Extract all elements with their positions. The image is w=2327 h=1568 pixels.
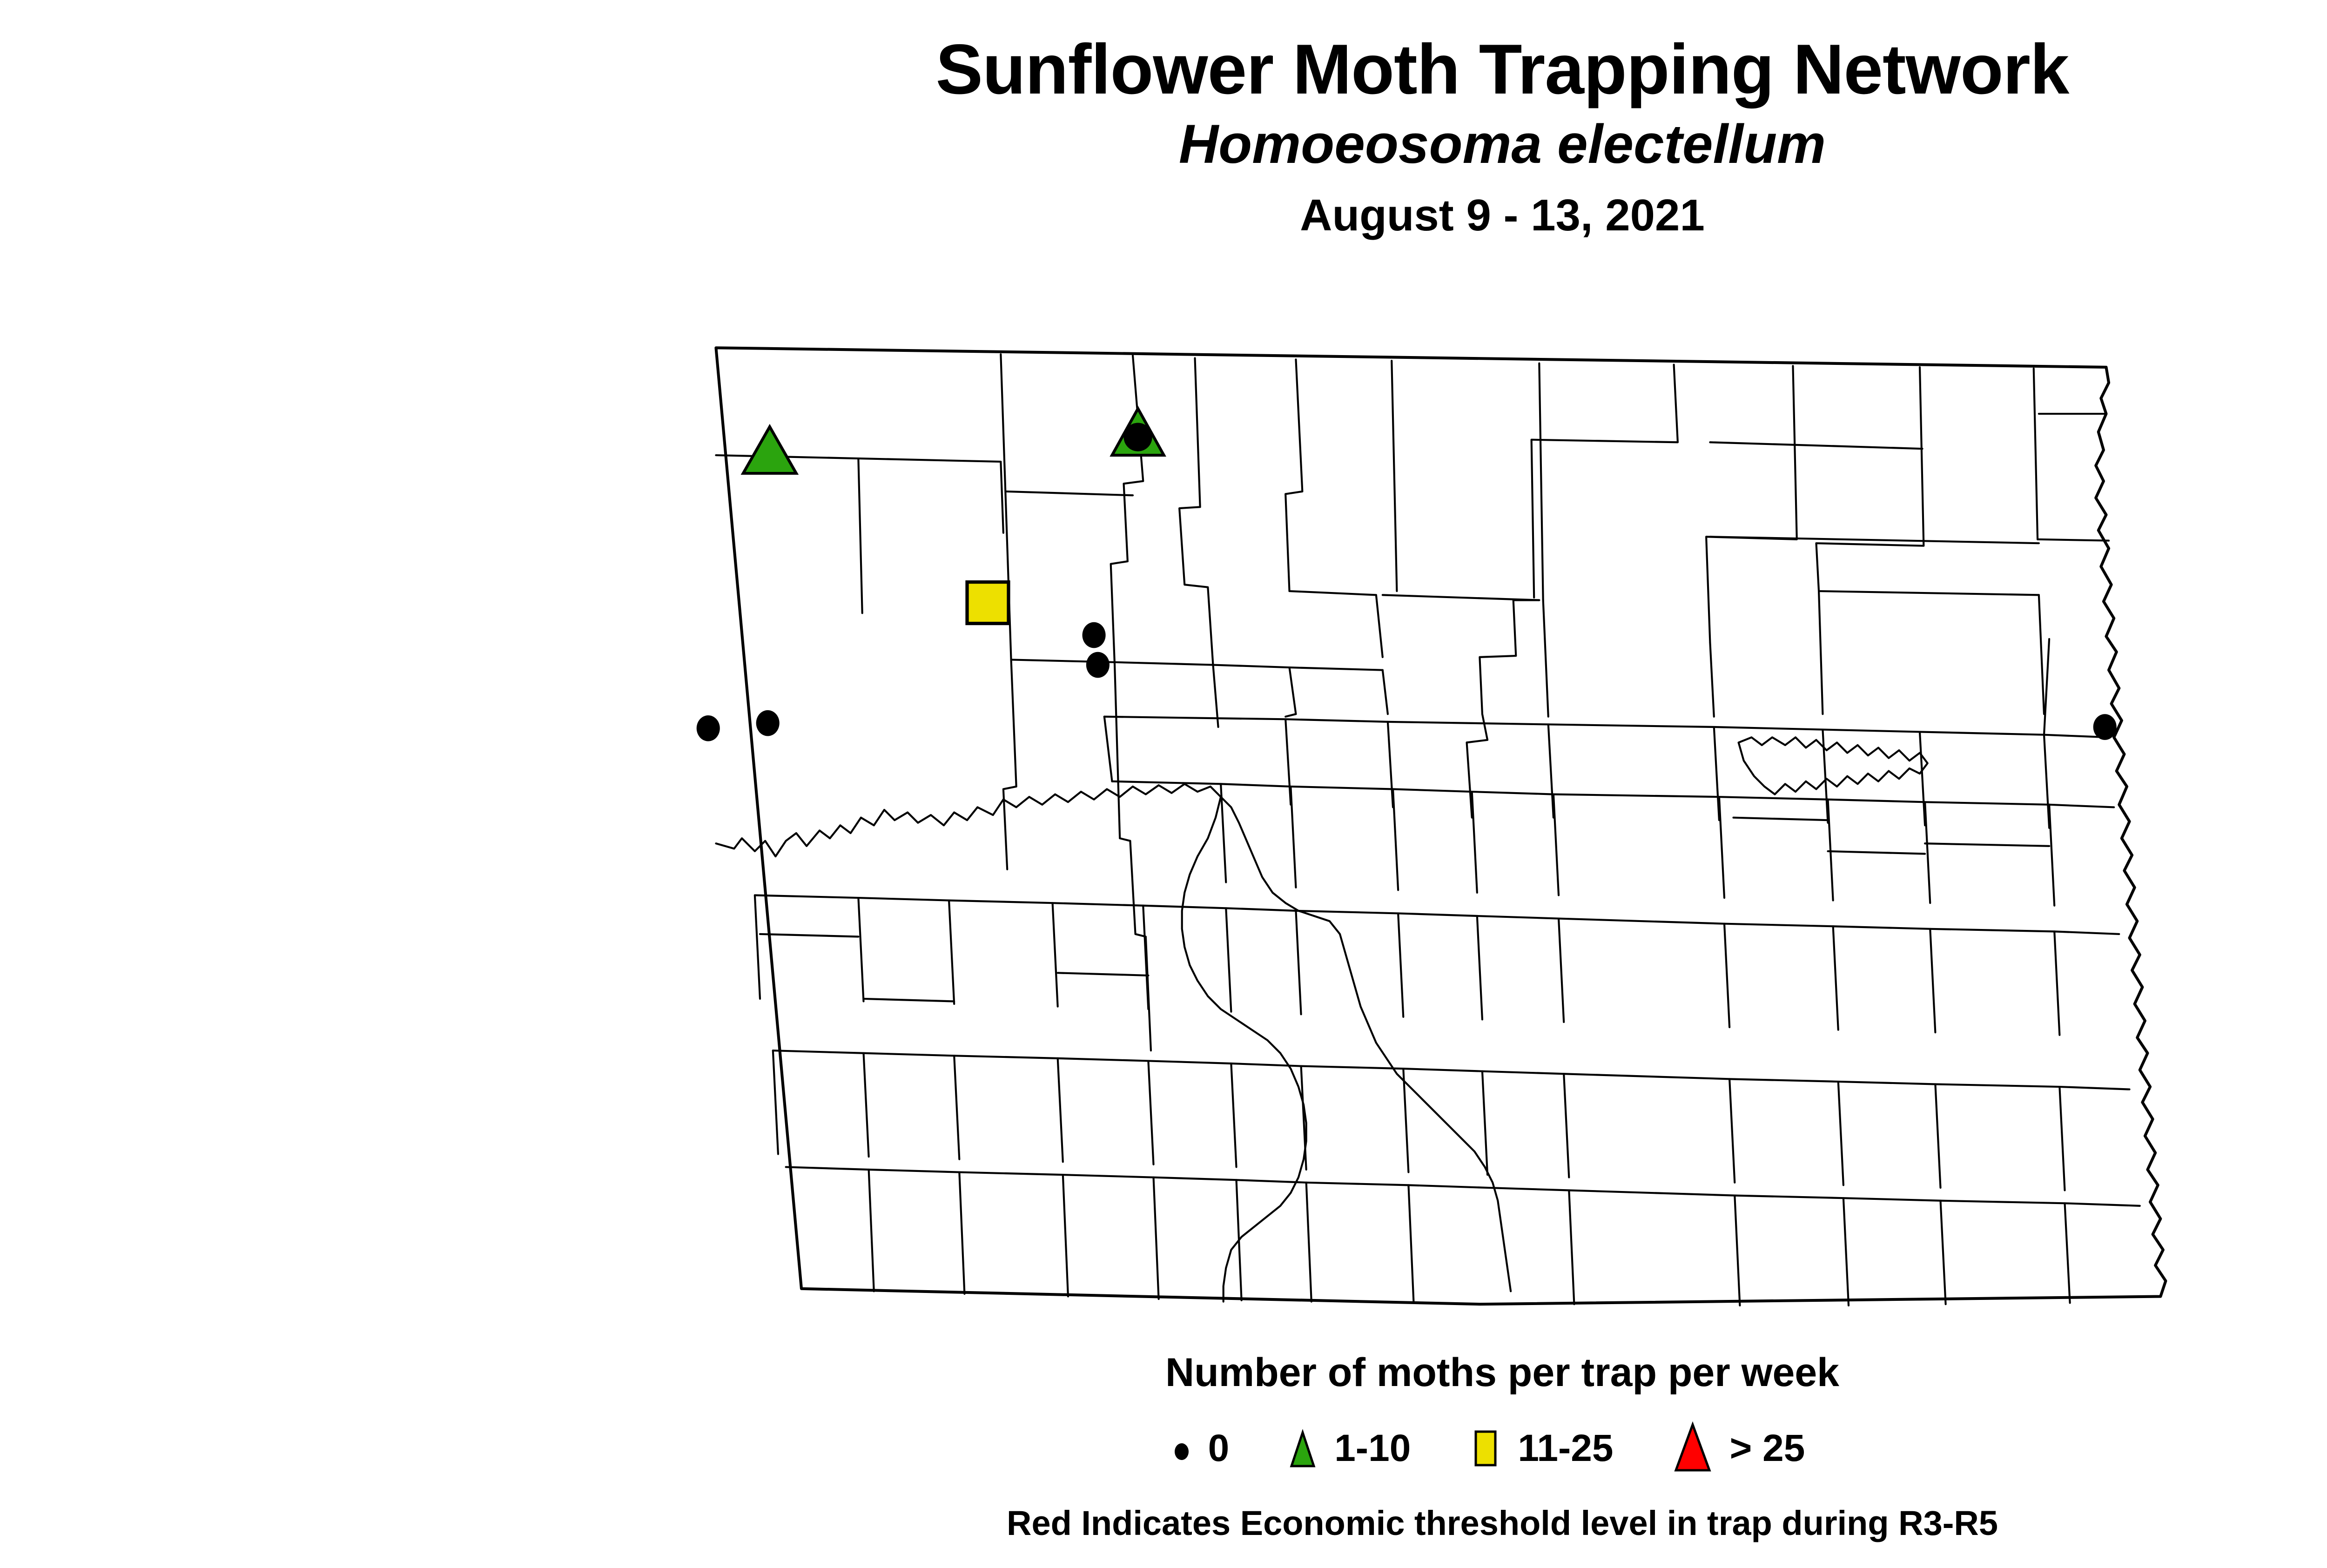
county-line-m8 xyxy=(1710,643,1714,716)
legend-item-low[interactable]: 1-10 xyxy=(1287,1426,1411,1471)
county-line-l2 xyxy=(858,898,863,1001)
county-row-line-6 xyxy=(1710,442,1922,449)
county-row-line-12 xyxy=(1823,639,2049,735)
county-line-l25 xyxy=(1729,1079,1735,1182)
county-line-l8 xyxy=(1398,913,1403,1016)
county-line-l17 xyxy=(954,1056,959,1159)
page-title: Sunflower Moth Trapping Network xyxy=(0,33,2327,107)
county-line-l40 xyxy=(2065,1203,2070,1303)
county-line-l39 xyxy=(1941,1201,1946,1304)
marker-circle-zero-c[interactable] xyxy=(697,715,720,741)
marker-square-11-25[interactable] xyxy=(967,582,1009,624)
county-line-l7 xyxy=(1296,911,1301,1014)
county-line-n2 xyxy=(1111,356,1143,665)
county-line-m17 xyxy=(1920,732,1925,825)
county-line-m18 xyxy=(2044,735,2049,828)
devils-lake xyxy=(1739,737,1928,794)
county-row-line-16 xyxy=(1828,851,1925,854)
marker-circle-zero-a[interactable] xyxy=(1083,622,1106,648)
county-line-l28 xyxy=(2059,1087,2065,1190)
county-line-m22 xyxy=(1472,792,1477,893)
county-line-l13 xyxy=(1930,929,1935,1032)
county-line-l9 xyxy=(1477,916,1482,1019)
triangle-red-icon xyxy=(1671,1421,1714,1476)
county-line-l18 xyxy=(1058,1058,1063,1162)
marker-circle-zero-d[interactable] xyxy=(756,710,780,736)
county-row-line-20 xyxy=(864,999,955,1002)
title-block: Sunflower Moth Trapping Network Homoeoso… xyxy=(0,33,2327,240)
county-line-n6 xyxy=(1539,363,1543,600)
county-row-line-21 xyxy=(1058,973,1149,976)
circle-icon xyxy=(1171,1433,1192,1464)
county-line-m25 xyxy=(1828,800,1833,901)
county-line-m1 xyxy=(1003,660,1016,869)
county-row-line-8 xyxy=(1819,591,2039,595)
county-row-line-22 xyxy=(773,1050,2130,1089)
county-row-line-4 xyxy=(1011,660,1383,670)
county-boundaries xyxy=(716,348,2166,1306)
county-row-line-23 xyxy=(786,1167,2140,1205)
county-line-m23 xyxy=(1554,794,1559,895)
county-line-l32 xyxy=(1154,1178,1159,1299)
county-line-m27 xyxy=(2049,805,2054,906)
county-line-n11 xyxy=(2034,369,2038,539)
trap-markers xyxy=(697,409,2117,741)
county-line-l16 xyxy=(864,1053,869,1157)
county-line-n5 xyxy=(1392,361,1397,591)
county-row-line-7 xyxy=(1710,537,2038,543)
county-line-l34 xyxy=(1306,1183,1311,1302)
county-line-l29 xyxy=(869,1170,874,1291)
county-line-m12 xyxy=(1388,722,1393,808)
county-line-l37 xyxy=(1735,1196,1740,1306)
legend-label-zero: 0 xyxy=(1208,1427,1230,1470)
county-line-l38 xyxy=(1843,1198,1849,1306)
county-line-l11 xyxy=(1724,924,1729,1027)
county-line-l1 xyxy=(755,895,760,998)
county-line-l14 xyxy=(2054,931,2059,1035)
county-row-line-14 xyxy=(1112,781,2114,808)
county-line-l26 xyxy=(1838,1082,1843,1185)
county-line-m13 xyxy=(1467,742,1472,817)
county-row-line-2 xyxy=(858,459,862,613)
marker-circle-zero-f[interactable] xyxy=(1124,423,1152,451)
county-line-m15 xyxy=(1714,727,1719,820)
county-line-m5 xyxy=(1383,670,1388,714)
county-line-n3 xyxy=(1179,358,1213,665)
legend-item-medium[interactable]: 11-25 xyxy=(1468,1426,1613,1471)
marker-circle-zero-e[interactable] xyxy=(2093,714,2117,740)
county-line-m14 xyxy=(1548,724,1554,817)
county-line-n10 xyxy=(1816,367,1924,591)
county-row-line-9 xyxy=(2038,539,2109,541)
county-line-m16 xyxy=(1823,730,1828,823)
county-line-l6 xyxy=(1226,908,1231,1011)
county-line-n9 xyxy=(1706,366,1797,643)
county-line-l24 xyxy=(1564,1074,1569,1177)
marker-circle-zero-b[interactable] xyxy=(1086,652,1110,678)
marker-triangle-1-10-a[interactable] xyxy=(743,427,796,473)
square-yellow-icon xyxy=(1468,1426,1502,1471)
map-svg xyxy=(677,326,2327,1317)
state-outline xyxy=(716,348,2166,1304)
county-row-line-11 xyxy=(1104,717,1112,781)
species-subtitle: Homoeosoma electellum xyxy=(0,114,2327,175)
legend-row: 0 1-10 11-25 xyxy=(0,1421,2327,1476)
legend-label-low: 1-10 xyxy=(1334,1427,1411,1470)
county-line-l10 xyxy=(1559,919,1564,1022)
economic-threshold-note: Red Indicates Economic threshold level i… xyxy=(0,1503,2327,1543)
legend-heading: Number of moths per trap per week xyxy=(0,1350,2327,1396)
legend-item-high[interactable]: > 25 xyxy=(1671,1421,1805,1476)
county-line-l15 xyxy=(773,1050,778,1154)
county-line-m10 xyxy=(2039,595,2044,714)
county-row-line-18 xyxy=(755,895,2119,934)
county-row-line-17 xyxy=(1925,843,2049,846)
county-line-l3 xyxy=(949,901,954,1004)
legend: Number of moths per trap per week 0 1-10 xyxy=(0,1350,2327,1476)
county-line-l19 xyxy=(1148,1061,1153,1164)
triangle-green-icon xyxy=(1287,1426,1318,1471)
county-line-l27 xyxy=(1935,1084,1940,1187)
county-line-m21 xyxy=(1393,789,1398,890)
county-row-line-5 xyxy=(1383,595,1540,600)
legend-label-high: > 25 xyxy=(1730,1427,1805,1470)
county-line-m9 xyxy=(1819,591,1823,714)
county-line-l36 xyxy=(1569,1190,1574,1304)
county-line-l23 xyxy=(1482,1071,1487,1175)
county-line-l4 xyxy=(1053,903,1058,1006)
county-line-n7 xyxy=(1532,364,1678,598)
county-line-n4 xyxy=(1285,359,1383,657)
county-line-l20 xyxy=(1231,1063,1236,1167)
county-line-l12 xyxy=(1833,926,1838,1030)
missouri-river-south xyxy=(1182,797,1306,1301)
county-line-m20 xyxy=(1291,787,1296,888)
county-line-m6 xyxy=(1467,714,1488,742)
county-line-l30 xyxy=(959,1172,964,1294)
county-line-m7 xyxy=(1543,600,1548,717)
poster-root: Sunflower Moth Trapping Network Homoeoso… xyxy=(0,0,2327,1568)
county-line-l31 xyxy=(1063,1175,1068,1296)
county-line-m26 xyxy=(1925,802,1930,903)
legend-item-zero[interactable]: 0 xyxy=(1171,1427,1230,1470)
county-line-m11 xyxy=(1285,719,1291,805)
county-line-n8 xyxy=(1480,600,1539,714)
county-line-m4 xyxy=(1285,667,1296,717)
county-line-m24 xyxy=(1719,797,1724,898)
county-line-m2 xyxy=(1115,665,1151,1051)
date-range-label: August 9 - 13, 2021 xyxy=(0,191,2327,240)
north-dakota-map xyxy=(677,326,2327,1317)
county-line-l35 xyxy=(1408,1185,1413,1303)
county-row-line-15 xyxy=(1734,818,1828,821)
legend-label-medium: 11-25 xyxy=(1518,1427,1613,1470)
county-row-line-19 xyxy=(760,934,858,937)
lake-sakakawea xyxy=(716,784,1511,1291)
county-row-line-3 xyxy=(1006,491,1133,495)
